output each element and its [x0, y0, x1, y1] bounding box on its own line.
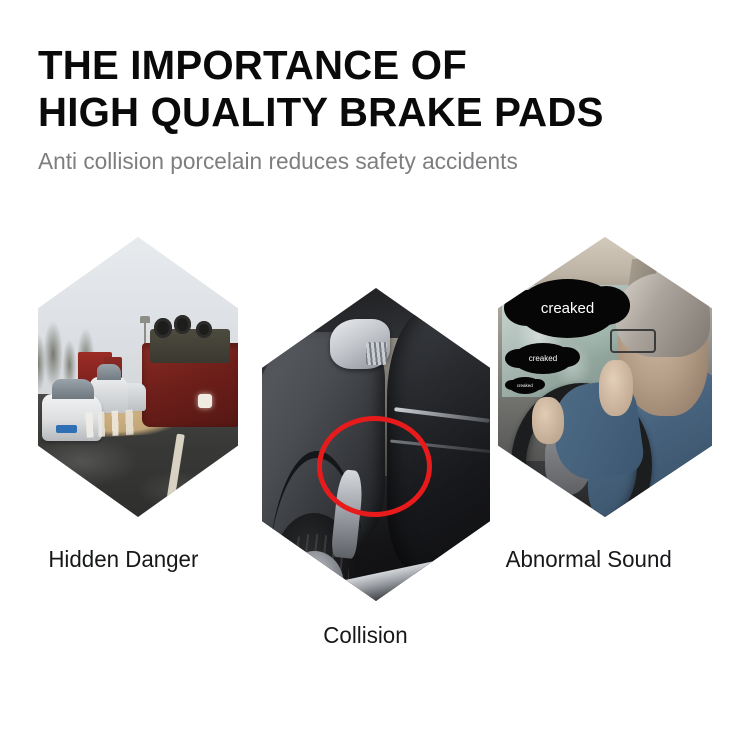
sound-bubble-small: creaked	[509, 377, 541, 394]
sound-bubble-medium-label: creaked	[529, 354, 557, 363]
truck-headlight	[198, 394, 212, 408]
red-highlight-ellipse	[317, 416, 432, 517]
panel-caption-hidden-danger: Hidden Danger	[48, 546, 198, 573]
truck-wheel-front	[154, 318, 172, 338]
sound-bubble-small-label: creaked	[517, 383, 533, 388]
hexagon-panel-group: creaked creaked creaked	[0, 0, 750, 729]
photo-driver-interior: creaked creaked creaked	[498, 237, 712, 517]
driver-hand-right	[599, 360, 633, 416]
driver-hand-left	[532, 397, 564, 445]
photo-highway-pileup	[38, 237, 238, 517]
panel-caption-collision: Collision	[323, 622, 407, 649]
panel-image-collision	[262, 288, 490, 601]
sound-bubble-medium: creaked	[513, 343, 573, 374]
sound-bubble-large: creaked	[517, 279, 618, 338]
panel-image-abnormal-sound: creaked creaked creaked	[498, 237, 712, 517]
driver-glasses	[610, 329, 657, 353]
sound-bubble-large-label: creaked	[541, 300, 594, 317]
side-mirror	[330, 319, 389, 369]
road-debris	[85, 409, 139, 438]
truck-wheel-middle	[174, 315, 191, 333]
photo-car-collision	[262, 288, 490, 601]
panel-image-hidden-danger	[38, 237, 238, 517]
truck-wheel-rear	[196, 321, 212, 338]
panel-caption-abnormal-sound: Abnormal Sound	[506, 546, 672, 573]
